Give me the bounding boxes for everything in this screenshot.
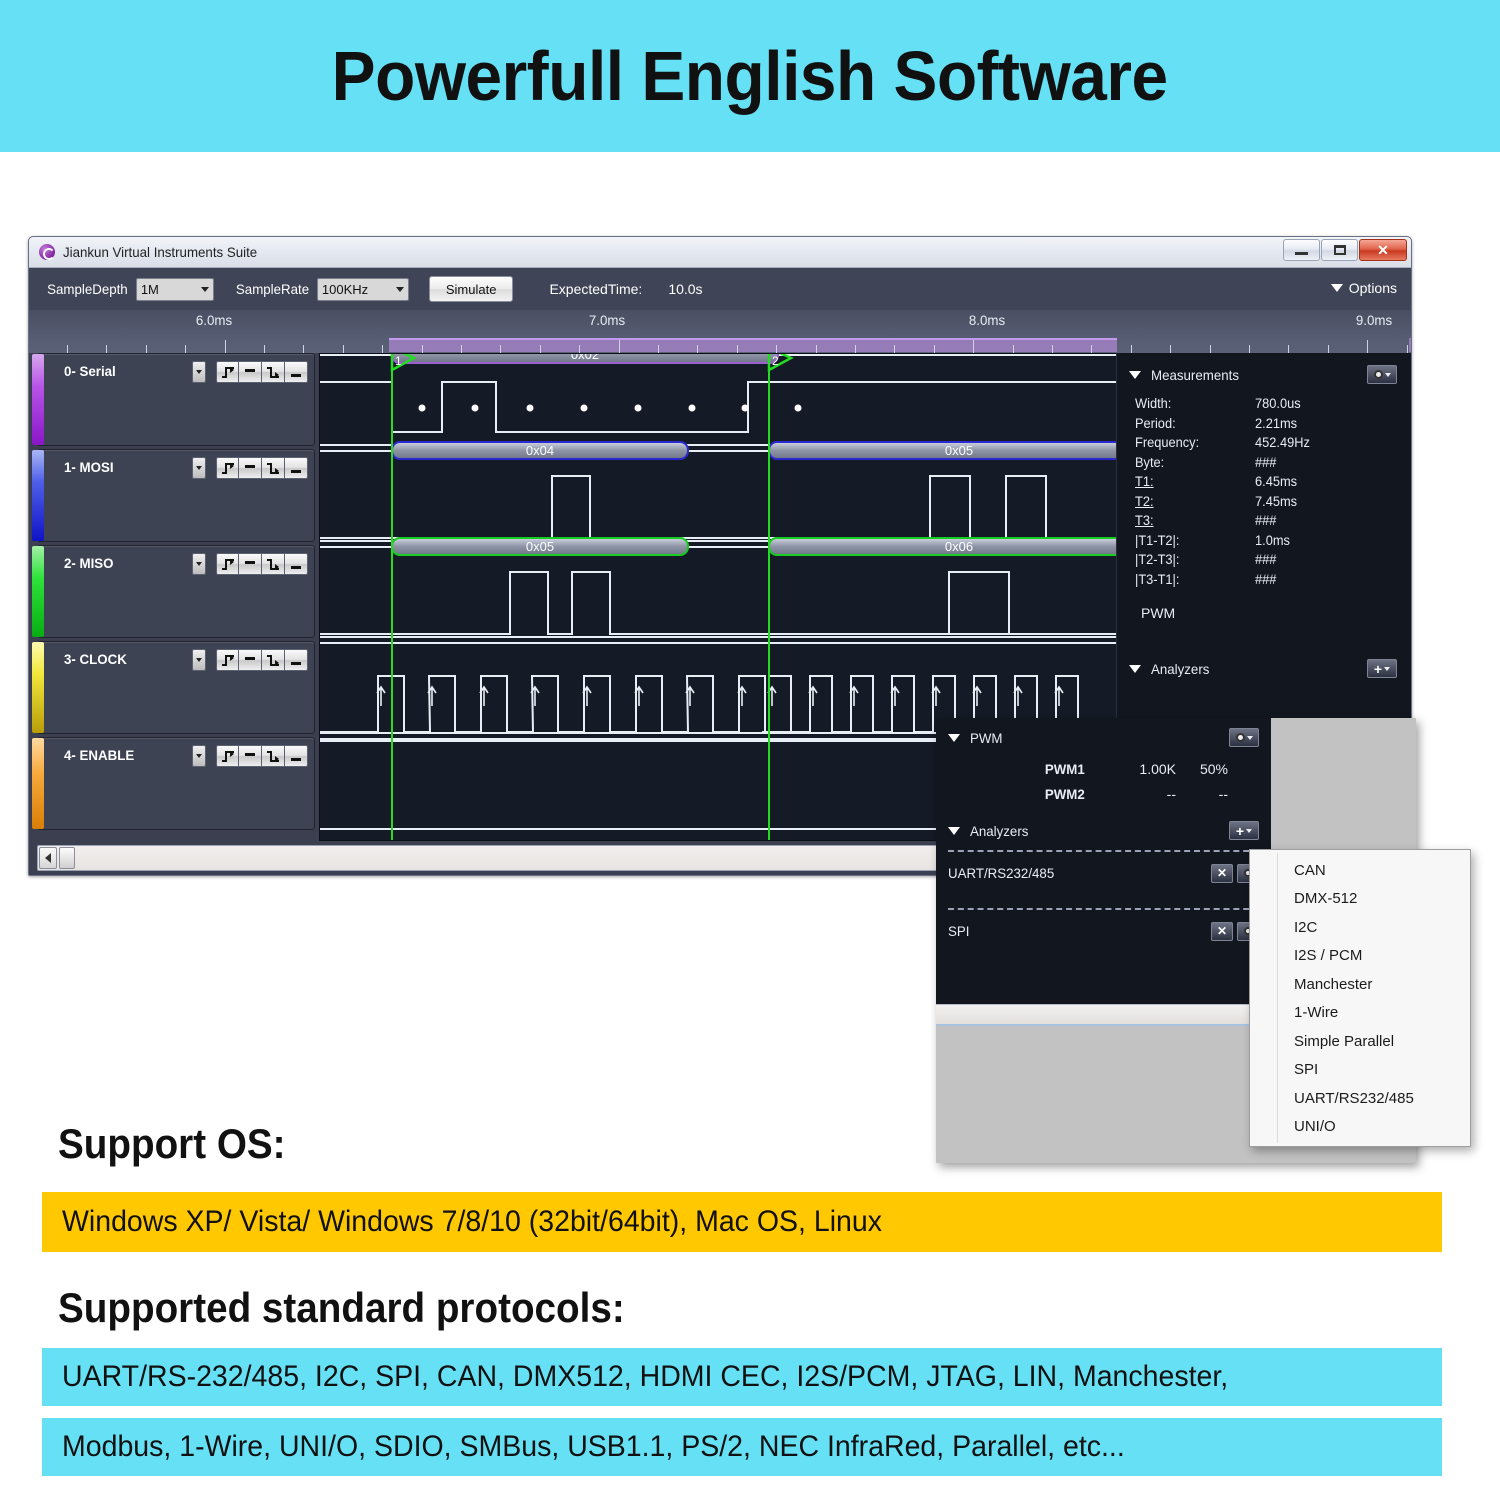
ruler-tick xyxy=(1407,345,1408,353)
ruler-tick xyxy=(1091,345,1092,353)
measurement-value: 452.49Hz xyxy=(1255,433,1310,453)
svg-text:2: 2 xyxy=(772,354,779,368)
channel-controls xyxy=(192,457,308,479)
channel-label: 0- Serial xyxy=(64,363,116,379)
ruler-tick xyxy=(1131,345,1132,353)
sample-rate-label: SampleRate xyxy=(236,281,309,297)
popup-pwm-title: PWM xyxy=(970,730,1216,746)
window-controls: ✕ xyxy=(1282,239,1407,261)
chevron-down-icon xyxy=(948,827,960,835)
rising-edge-icon[interactable] xyxy=(216,361,239,383)
options-label: Options xyxy=(1349,280,1397,296)
scroll-left-button[interactable] xyxy=(39,847,57,869)
measurement-key[interactable]: T1: xyxy=(1135,472,1249,492)
app-logo-icon xyxy=(39,244,55,260)
ruler-tick xyxy=(540,345,541,353)
channel-controls xyxy=(192,361,308,383)
ruler-tick xyxy=(1170,345,1171,353)
sample-rate-value: 100KHz xyxy=(322,282,390,297)
pwm-section-header[interactable]: PWM xyxy=(1141,605,1397,621)
measurement-value: 780.0us xyxy=(1255,394,1301,414)
chevron-down-icon xyxy=(196,466,202,470)
ruler-tick xyxy=(816,345,817,353)
low-level-icon[interactable] xyxy=(285,745,308,767)
sample-rate-select[interactable]: 100KHz xyxy=(317,278,409,301)
measurement-value: 7.45ms xyxy=(1255,492,1297,512)
high-level-icon[interactable] xyxy=(239,745,262,767)
channel-label: 2- MISO xyxy=(64,555,114,571)
window-titlebar: Jiankun Virtual Instruments Suite ✕ xyxy=(29,237,1411,268)
channel-list: 0- Serial 1- MOSI xyxy=(37,353,315,833)
ruler-label: 9.0ms xyxy=(1356,312,1392,328)
channel-row-clock[interactable]: 3- CLOCK xyxy=(37,641,315,734)
page-banner: Powerfull English Software xyxy=(0,0,1500,152)
channel-label: 3- CLOCK xyxy=(64,651,127,667)
low-level-icon[interactable] xyxy=(285,457,308,479)
protocols-heading: Supported standard protocols: xyxy=(58,1284,625,1332)
measurement-value: ### xyxy=(1255,550,1276,570)
high-level-icon[interactable] xyxy=(239,553,262,575)
measurement-values: Width:780.0usPeriod:2.21msFrequency:452.… xyxy=(1135,394,1397,589)
high-level-icon[interactable] xyxy=(239,361,262,383)
low-level-icon[interactable] xyxy=(285,553,308,575)
measurement-row: Byte:### xyxy=(1135,453,1397,473)
sample-depth-value: 1M xyxy=(141,282,195,297)
measurement-key: |T2-T3|: xyxy=(1135,550,1249,570)
ruler-tick xyxy=(973,340,974,353)
analyzer-name: SPI xyxy=(948,923,1194,939)
pwm-channel-name: PWM1 xyxy=(952,757,1095,782)
pwm-channel-name: PWM2 xyxy=(952,782,1095,807)
ruler-tick xyxy=(776,345,777,353)
menu-item[interactable]: Manchester xyxy=(1250,970,1470,999)
ruler-tick xyxy=(382,345,383,353)
ruler-tick xyxy=(1052,345,1053,353)
menu-item[interactable]: Simple Parallel xyxy=(1250,1027,1470,1056)
measurement-key: |T3-T1|: xyxy=(1135,570,1249,590)
trigger-button-group xyxy=(216,457,308,479)
support-os-band: Windows XP/ Vista/ Windows 7/8/10 (32bit… xyxy=(42,1192,1442,1252)
measurement-value: 2.21ms xyxy=(1255,414,1297,434)
pwm-values: PWM1 1.00K 50% PWM2 -- -- xyxy=(948,757,1259,807)
pwm-frequency: 1.00K xyxy=(1098,757,1176,782)
ruler-tick xyxy=(146,345,147,353)
pwm-settings-button[interactable] xyxy=(1229,728,1259,747)
popup-add-analyzer-button[interactable]: + xyxy=(1229,821,1259,840)
chevron-down-icon xyxy=(196,658,202,662)
channel-row-serial[interactable]: 0- Serial xyxy=(37,353,315,446)
menu-item[interactable]: I2S / PCM xyxy=(1250,942,1470,971)
chevron-down-icon xyxy=(396,287,404,292)
channel-color-bar xyxy=(32,738,44,829)
falling-edge-icon[interactable] xyxy=(262,361,285,383)
measurement-value: ### xyxy=(1255,570,1276,590)
pwm-title: PWM xyxy=(1141,605,1175,621)
pwm-frequency: -- xyxy=(1098,782,1176,807)
minimize-icon xyxy=(1295,252,1308,255)
chevron-down-icon xyxy=(196,562,202,566)
analyzer-item-spi[interactable]: SPI ✕ xyxy=(948,914,1259,948)
high-level-icon[interactable] xyxy=(239,649,262,671)
measurement-key: Period: xyxy=(1135,414,1249,434)
channel-label: 1- MOSI xyxy=(64,459,114,475)
channel-controls xyxy=(192,745,308,767)
ruler-tick xyxy=(1210,345,1211,353)
channel-row-mosi[interactable]: 1- MOSI xyxy=(37,449,315,542)
measurement-value: 6.45ms xyxy=(1255,472,1297,492)
channel-menu-button[interactable] xyxy=(192,745,206,767)
channel-controls xyxy=(192,553,308,575)
chevron-down-icon xyxy=(196,754,202,758)
svg-text:0x06: 0x06 xyxy=(945,539,973,554)
chevron-down-icon xyxy=(1384,667,1390,671)
window-title: Jiankun Virtual Instruments Suite xyxy=(63,244,257,260)
high-level-icon[interactable] xyxy=(239,457,262,479)
close-button[interactable]: ✕ xyxy=(1359,239,1407,261)
protocols-band-2: Modbus, 1-Wire, UNI/O, SDIO, SMBus, USB1… xyxy=(42,1418,1442,1476)
ruler-label: 8.0ms xyxy=(969,312,1005,328)
pwm-row: PWM1 1.00K 50% xyxy=(948,757,1259,782)
measurement-key: Frequency: xyxy=(1135,433,1249,453)
measurement-row: T2:7.45ms xyxy=(1135,492,1397,512)
menu-item[interactable]: SPI xyxy=(1250,1056,1470,1085)
ruler-tick xyxy=(737,345,738,353)
measurements-settings-button[interactable] xyxy=(1367,365,1397,384)
channel-menu-button[interactable] xyxy=(192,553,206,575)
chevron-down-icon xyxy=(1246,829,1252,833)
ruler-tick xyxy=(619,340,620,353)
rising-edge-icon[interactable] xyxy=(216,649,239,671)
rising-edge-icon[interactable] xyxy=(216,553,239,575)
measurement-value: ### xyxy=(1255,453,1276,473)
channel-menu-button[interactable] xyxy=(192,649,206,671)
support-os-text: Windows XP/ Vista/ Windows 7/8/10 (32bit… xyxy=(62,1205,882,1239)
chevron-down-icon xyxy=(1129,371,1141,379)
ruler-tick xyxy=(185,345,186,353)
menu-item[interactable]: I2C xyxy=(1250,913,1470,942)
chevron-down-icon xyxy=(1247,736,1253,740)
svg-text:0x04: 0x04 xyxy=(526,443,554,458)
options-menu-button[interactable]: Options xyxy=(1331,280,1397,296)
measurement-key[interactable]: T3: xyxy=(1135,511,1249,531)
plus-icon: + xyxy=(1374,664,1382,674)
measurements-header[interactable]: Measurements xyxy=(1129,365,1397,384)
gear-icon xyxy=(1236,733,1245,742)
ruler-tick xyxy=(855,345,856,353)
menu-item[interactable]: CAN xyxy=(1250,856,1470,885)
popup-horizontal-scrollbar[interactable] xyxy=(936,1004,1271,1026)
channel-row-miso[interactable]: 2- MISO xyxy=(37,545,315,638)
falling-edge-icon[interactable] xyxy=(262,553,285,575)
sample-depth-select[interactable]: 1M xyxy=(136,278,214,301)
chevron-down-icon xyxy=(201,287,209,292)
popup-analyzers-header[interactable]: Analyzers + xyxy=(948,821,1259,840)
ruler-tick xyxy=(1249,345,1250,353)
remove-analyzer-button[interactable]: ✕ xyxy=(1211,922,1233,941)
channel-color-bar xyxy=(32,546,44,637)
measurement-key[interactable]: T2: xyxy=(1135,492,1249,512)
analyzer-protocol-menu[interactable]: CANDMX-512I2CI2S / PCMManchester1-WireSi… xyxy=(1249,849,1471,1147)
analyzers-section-header[interactable]: Analyzers + xyxy=(1129,659,1397,678)
rising-edge-icon[interactable] xyxy=(216,745,239,767)
time-ruler[interactable]: 6.0ms 7.0ms 8.0ms 9.0ms xyxy=(29,310,1411,353)
low-level-icon[interactable] xyxy=(285,361,308,383)
remove-analyzer-button[interactable]: ✕ xyxy=(1211,864,1233,883)
ruler-tick xyxy=(303,345,304,353)
trigger-button-group xyxy=(216,649,308,671)
sample-depth-label: SampleDepth xyxy=(47,281,128,297)
ruler-tick xyxy=(67,345,68,353)
analyzer-popup-content: PWM PWM1 1.00K 50% PWM2 -- -- Analyzers … xyxy=(936,718,1271,1004)
protocols-band-1: UART/RS-232/485, I2C, SPI, CAN, DMX512, … xyxy=(42,1348,1442,1406)
measurement-row: Frequency:452.49Hz xyxy=(1135,433,1397,453)
chevron-down-icon xyxy=(1385,373,1391,377)
svg-text:0x05: 0x05 xyxy=(526,539,554,554)
ruler-tick xyxy=(934,345,935,353)
chevron-left-icon xyxy=(45,853,51,863)
low-level-icon[interactable] xyxy=(285,649,308,671)
channel-row-enable[interactable]: 4- ENABLE xyxy=(37,737,315,830)
protocols-line-2: Modbus, 1-Wire, UNI/O, SDIO, SMBus, USB1… xyxy=(62,1430,1125,1464)
channel-label: 4- ENABLE xyxy=(64,747,134,763)
ruler-tick xyxy=(461,345,462,353)
maximize-icon xyxy=(1334,245,1346,255)
gear-icon xyxy=(1374,370,1383,379)
pwm-duty: 50% xyxy=(1176,757,1228,782)
falling-edge-icon[interactable] xyxy=(262,745,285,767)
scrollbar-thumb[interactable] xyxy=(59,847,75,869)
rising-edge-icon[interactable] xyxy=(216,457,239,479)
ruler-label: 6.0ms xyxy=(196,312,232,328)
chevron-down-icon xyxy=(1129,665,1141,673)
ruler-tick xyxy=(579,345,580,353)
falling-edge-icon[interactable] xyxy=(262,457,285,479)
add-analyzer-button[interactable]: + xyxy=(1367,659,1397,678)
ruler-tick xyxy=(1288,345,1289,353)
ruler-tick xyxy=(500,345,501,353)
measurement-value: ### xyxy=(1255,511,1276,531)
banner-title: Powerfull English Software xyxy=(332,36,1168,116)
measurement-row: Width:780.0us xyxy=(1135,394,1397,414)
ruler-tick xyxy=(894,345,895,353)
plus-icon: + xyxy=(1236,826,1244,836)
expected-time-label: ExpectedTime: xyxy=(549,281,642,297)
measurement-row: Period:2.21ms xyxy=(1135,414,1397,434)
ruler-tick xyxy=(106,345,107,353)
measurement-value: 1.0ms xyxy=(1255,531,1290,551)
protocols-line-1: UART/RS-232/485, I2C, SPI, CAN, DMX512, … xyxy=(62,1360,1228,1394)
measurement-row: T1:6.45ms xyxy=(1135,472,1397,492)
divider xyxy=(948,908,1259,910)
pwm-row: PWM2 -- -- xyxy=(948,782,1259,807)
analyzers-title: Analyzers xyxy=(1151,661,1356,677)
menu-item[interactable]: UNI/O xyxy=(1250,1113,1470,1142)
pwm-duty: -- xyxy=(1176,782,1228,807)
channel-color-bar xyxy=(32,354,44,445)
trigger-button-group xyxy=(216,745,308,767)
svg-text:1: 1 xyxy=(395,354,402,368)
ruler-label: 7.0ms xyxy=(589,312,625,328)
maximize-button[interactable] xyxy=(1321,239,1358,261)
ruler-tick xyxy=(697,345,698,353)
svg-text:0x02: 0x02 xyxy=(571,354,599,362)
channel-color-bar xyxy=(32,642,44,733)
ruler-tick xyxy=(1367,340,1368,353)
ruler-ticks xyxy=(29,339,1411,353)
analyzer-name: UART/RS232/485 xyxy=(948,865,1194,881)
trigger-button-group xyxy=(216,553,308,575)
ruler-tick xyxy=(1013,345,1014,353)
channel-color-bar xyxy=(32,450,44,541)
measurement-key: |T1-T2|: xyxy=(1135,531,1249,551)
ruler-tick xyxy=(1328,345,1329,353)
popup-analyzers-title: Analyzers xyxy=(970,823,1216,839)
measurement-row: |T3-T1|:### xyxy=(1135,570,1397,590)
chevron-down-icon xyxy=(196,370,202,374)
analyzer-item-uart[interactable]: UART/RS232/485 ✕ xyxy=(948,856,1259,890)
channel-menu-button[interactable] xyxy=(192,361,206,383)
measurement-row: |T1-T2|:1.0ms xyxy=(1135,531,1397,551)
channel-controls xyxy=(192,649,308,671)
ruler-tick xyxy=(343,345,344,353)
chevron-down-icon xyxy=(948,734,960,742)
support-os-heading: Support OS: xyxy=(58,1120,286,1168)
menu-item[interactable]: UART/RS232/485 xyxy=(1250,1084,1470,1113)
simulate-button[interactable]: Simulate xyxy=(429,276,514,302)
measurement-key: Byte: xyxy=(1135,453,1249,473)
ruler-tick xyxy=(264,345,265,353)
svg-text:0x05: 0x05 xyxy=(945,443,973,458)
measurement-row: T3:### xyxy=(1135,511,1397,531)
measurements-title: Measurements xyxy=(1151,367,1356,383)
measurement-key: Width: xyxy=(1135,394,1249,414)
popup-pwm-header[interactable]: PWM xyxy=(948,728,1259,747)
ruler-tick xyxy=(422,345,423,353)
menu-item[interactable]: 1-Wire xyxy=(1250,999,1470,1028)
ruler-tick xyxy=(225,340,226,353)
divider xyxy=(948,850,1259,852)
minimize-button[interactable] xyxy=(1283,239,1320,261)
chevron-down-icon xyxy=(1331,284,1343,292)
falling-edge-icon[interactable] xyxy=(262,649,285,671)
trigger-button-group xyxy=(216,361,308,383)
menu-item[interactable]: DMX-512 xyxy=(1250,885,1470,914)
measurement-row: |T2-T3|:### xyxy=(1135,550,1397,570)
expected-time-value: 10.0s xyxy=(668,281,702,297)
ruler-tick xyxy=(658,345,659,353)
main-toolbar: SampleDepth 1M SampleRate 100KHz Simulat… xyxy=(29,268,1411,310)
channel-menu-button[interactable] xyxy=(192,457,206,479)
